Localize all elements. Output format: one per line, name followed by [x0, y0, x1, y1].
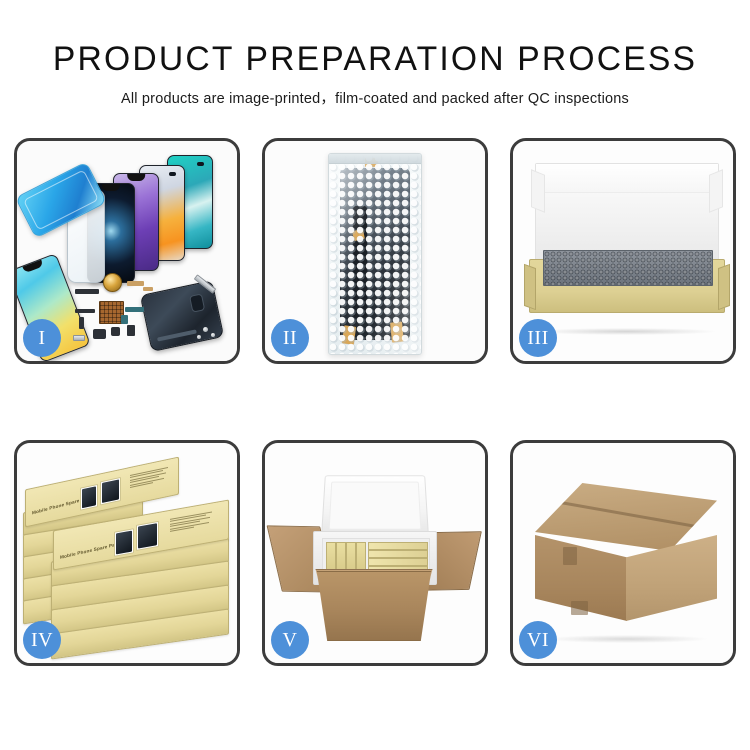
speaker-module-icon [93, 329, 106, 339]
yellow-box-tray-icon [529, 259, 725, 313]
page-subtitle: All products are image-printed，film-coat… [0, 87, 750, 108]
process-steps-grid: I II [14, 138, 736, 666]
drop-shadow [547, 635, 707, 643]
notch-icon [127, 174, 145, 181]
step-badge-4: IV [23, 621, 61, 659]
flex-cable-tan-2-icon [143, 287, 153, 291]
volume-button-icon [73, 335, 85, 341]
camera-holepunch-icon [197, 162, 204, 166]
flex-cable-tan-icon [127, 281, 144, 286]
tray-corner-left [524, 264, 536, 310]
process-step-panel-3[interactable]: III [510, 138, 736, 364]
battery-connector-icon [75, 289, 99, 294]
bag-seal-icon [329, 154, 421, 164]
wireless-charging-coil-icon [103, 273, 122, 292]
page-header: PRODUCT PREPARATION PROCESS All products… [0, 0, 750, 108]
inner-box-h-1 [368, 542, 428, 550]
carton-tape-upper-icon [563, 547, 577, 565]
foam-lid-top-face [536, 164, 718, 193]
process-step-panel-2[interactable]: II [262, 138, 488, 364]
inner-box-h-3 [368, 558, 428, 566]
screw-icon [203, 327, 208, 332]
box-label-image-d [136, 521, 159, 551]
camera-holepunch-icon [169, 172, 176, 176]
step-badge-3: III [519, 319, 557, 357]
process-step-panel-4[interactable]: Mobile Phone Spare Parts Mobile Phone Sp… [14, 440, 240, 666]
lid-fold-left [531, 169, 545, 213]
housing-strip-icon [157, 330, 197, 342]
box-label-image-a [80, 484, 98, 511]
page-title: PRODUCT PREPARATION PROCESS [4, 42, 747, 78]
carton-body-icon [309, 571, 439, 641]
process-step-panel-6[interactable]: VI [510, 440, 736, 666]
rear-camera-module-icon [189, 293, 206, 312]
foam-lid-open-icon [321, 475, 429, 537]
step-badge-2: II [271, 319, 309, 357]
step-badge-6: VI [519, 621, 557, 659]
step-badge-1: I [23, 319, 61, 357]
carton-tape-lower-icon [571, 601, 588, 615]
inner-box-h-2 [368, 550, 428, 558]
flex-cable-teal-icon [125, 307, 144, 312]
box-label-image-c [114, 528, 134, 557]
bubble-wrap-bag-icon [328, 153, 422, 355]
tray-corner-right [718, 264, 730, 310]
foam-lid-inner [329, 482, 422, 530]
label-screen-thumb [138, 523, 157, 548]
screw-3-icon [197, 335, 201, 339]
process-step-panel-1[interactable]: I [14, 138, 240, 364]
box-label-image-b [100, 477, 121, 505]
label-screen-thumb [82, 486, 96, 508]
plastic-gloss-overlay [329, 154, 421, 354]
screw-2-icon [211, 333, 215, 337]
sim-tray-icon [127, 325, 135, 336]
flex-cable-teal-2-icon [121, 315, 128, 324]
step-badge-5: V [271, 621, 309, 659]
flex-cable-dark-2-icon [79, 317, 84, 329]
drop-shadow [537, 328, 715, 335]
process-step-panel-5[interactable]: V [262, 440, 488, 666]
bubble-wrap-padding-icon [543, 250, 713, 286]
flex-cable-dark-icon [75, 309, 95, 313]
label-screen-thumb [102, 479, 119, 503]
label-screen-thumb [116, 531, 132, 555]
notch-icon [102, 184, 120, 191]
lid-fold-right [709, 169, 723, 213]
vibration-motor-icon [111, 327, 120, 336]
